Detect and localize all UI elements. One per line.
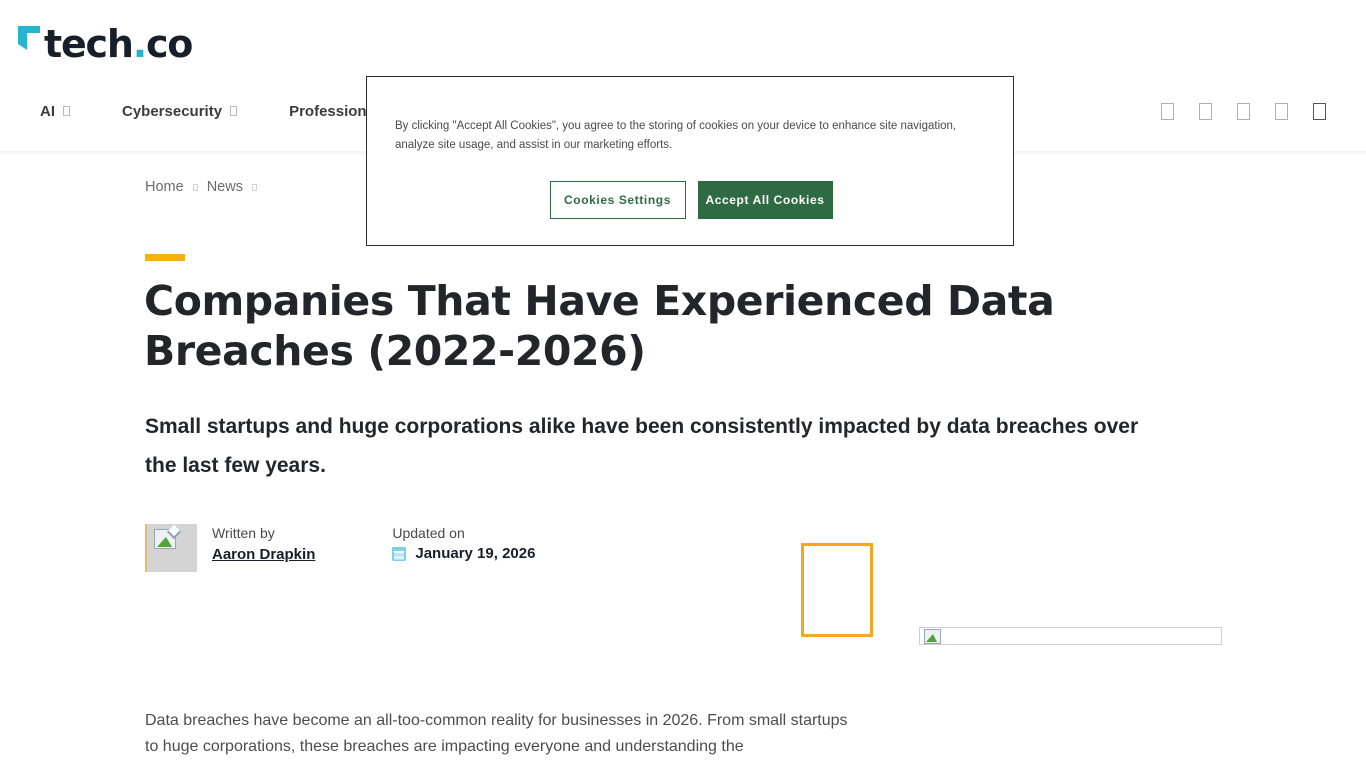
cookie-consent-actions: Cookies Settings Accept All Cookies [367, 181, 1015, 219]
image-placeholder [919, 627, 1222, 645]
article-body-paragraph: Data breaches have become an all-too-com… [145, 708, 857, 760]
breadcrumb-item-news[interactable]: News [207, 179, 243, 195]
article-subtitle: Small startups and huge corporations ali… [145, 407, 1175, 485]
logo-text-primary: tech [44, 22, 133, 66]
nav-item-cybersecurity[interactable]: Cybersecurity [122, 103, 237, 120]
logo-text-secondary: co [146, 22, 192, 66]
breadcrumb: Home News [145, 179, 266, 195]
logo-arrow-icon [16, 24, 42, 54]
byline-date-block: Updated on January 19, 2026 [392, 524, 535, 562]
breadcrumb-item-home[interactable]: Home [145, 179, 184, 195]
logo-dot: . [133, 22, 146, 66]
accent-bar [145, 254, 185, 261]
article-byline: Written by Aaron Drapkin Updated on Janu… [145, 524, 535, 572]
highlight-box [801, 543, 873, 637]
chevron-right-icon [252, 184, 257, 191]
avatar [145, 524, 197, 572]
updated-on-label: Updated on [392, 524, 535, 542]
cookies-settings-button[interactable]: Cookies Settings [550, 181, 686, 219]
logo-text: tech.co [44, 25, 192, 63]
written-by-label: Written by [212, 524, 315, 542]
byline-author-block: Written by Aaron Drapkin [212, 524, 315, 566]
page-root: tech.co AI Cybersecurity Professional [0, 0, 1366, 768]
search-icon[interactable] [1313, 103, 1326, 120]
chevron-down-icon [230, 106, 237, 116]
nav-utility-icon-4[interactable] [1275, 103, 1288, 120]
nav-utility-icon-1[interactable] [1161, 103, 1174, 120]
author-link[interactable]: Aaron Drapkin [212, 544, 315, 566]
broken-image-icon [924, 629, 941, 644]
nav-item-ai[interactable]: AI [40, 103, 70, 120]
broken-image-icon [154, 529, 176, 549]
nav-item-label: AI [40, 103, 55, 120]
cookie-consent-dialog: By clicking "Accept All Cookies", you ag… [366, 76, 1014, 246]
chevron-right-icon [193, 184, 198, 191]
nav-utility-icon-2[interactable] [1199, 103, 1212, 120]
nav-utility-icons [1136, 88, 1326, 134]
page-title: Companies That Have Experienced Data Bre… [144, 276, 1064, 376]
chevron-down-icon [63, 106, 70, 116]
site-logo[interactable]: tech.co [16, 20, 192, 68]
updated-date: January 19, 2026 [415, 545, 535, 562]
cookie-consent-message: By clicking "Accept All Cookies", you ag… [395, 117, 963, 155]
nav-utility-icon-3[interactable] [1237, 103, 1250, 120]
calendar-icon [392, 547, 406, 561]
nav-item-label: Cybersecurity [122, 103, 222, 120]
updated-date-row: January 19, 2026 [392, 545, 535, 562]
accept-all-cookies-button[interactable]: Accept All Cookies [698, 181, 833, 219]
